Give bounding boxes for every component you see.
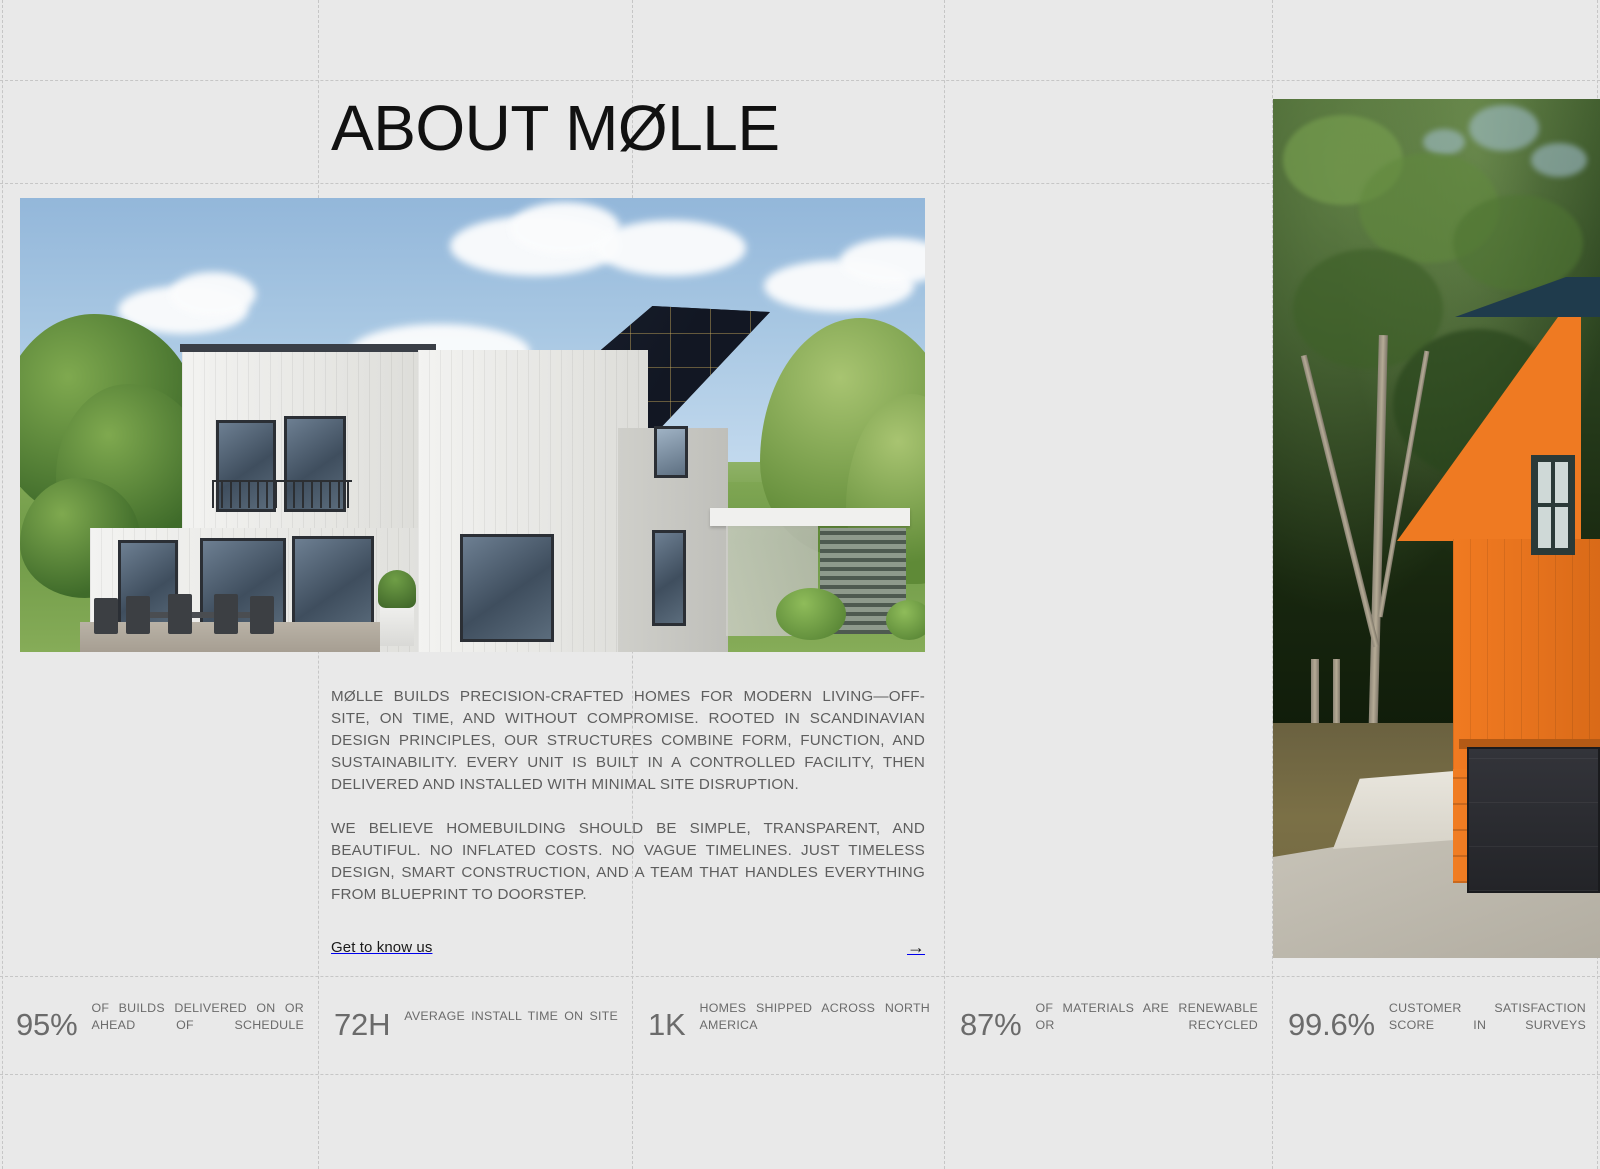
parapet xyxy=(180,344,436,352)
shrub xyxy=(886,600,925,640)
stat-value: 87% xyxy=(960,1007,1021,1043)
planter xyxy=(380,602,414,646)
hero-illustration xyxy=(20,198,925,652)
window xyxy=(652,530,686,626)
window xyxy=(654,426,688,478)
cta-label: Get to know us xyxy=(331,939,432,956)
side-illustration xyxy=(1273,99,1600,958)
stat-label: Of builds delivered on or ahead of sched… xyxy=(91,1000,304,1051)
grid-line-horizontal xyxy=(0,80,1600,81)
patio-chair xyxy=(250,596,274,634)
hero-image xyxy=(20,198,925,652)
grid-line-horizontal xyxy=(0,1074,1600,1075)
stat-value: 99.6% xyxy=(1288,1007,1375,1043)
sliding-door xyxy=(460,534,554,642)
window xyxy=(1531,455,1575,555)
page-title: ABOUT MØLLE xyxy=(331,96,780,160)
stat-label: Homes shipped across North America xyxy=(700,1000,930,1051)
sky-patch xyxy=(1469,105,1539,151)
sky-patch xyxy=(1531,143,1587,177)
stat-item: 99.6% Customer satisfaction score in sur… xyxy=(1272,976,1600,1074)
stat-item: 87% Of materials are renewable or recycl… xyxy=(944,976,1272,1074)
foliage xyxy=(1453,195,1583,291)
stat-value: 72H xyxy=(334,1007,390,1043)
about-paragraph-1: Mølle builds precision-crafted homes for… xyxy=(331,686,925,796)
cloud xyxy=(596,220,746,276)
plant xyxy=(378,570,416,608)
stat-label: Customer satisfaction score in surveys xyxy=(1389,1000,1586,1051)
stats-strip: 95% Of builds delivered on or ahead of s… xyxy=(0,976,1600,1074)
stat-value: 95% xyxy=(16,1007,77,1043)
shrub xyxy=(776,588,846,640)
window-mullion xyxy=(1538,503,1568,507)
patio-chair xyxy=(94,598,118,634)
patio-chair xyxy=(214,594,238,634)
side-image xyxy=(1273,99,1600,958)
stat-value: 1K xyxy=(648,1007,686,1043)
stat-label: Of materials are renewable or recycled xyxy=(1035,1000,1258,1051)
cloud xyxy=(170,272,256,316)
garage-door xyxy=(1467,747,1600,893)
get-to-know-us-link[interactable]: Get to know us → xyxy=(331,938,925,956)
patio-chair xyxy=(168,594,192,634)
about-paragraph-2: We believe homebuilding should be simple… xyxy=(331,818,925,906)
stat-item: 1K Homes shipped across North America xyxy=(632,976,944,1074)
patio-chair xyxy=(126,596,150,634)
sky-patch xyxy=(1423,129,1465,155)
carport-roof xyxy=(710,508,910,526)
stat-item: 95% Of builds delivered on or ahead of s… xyxy=(0,976,318,1074)
house-facade xyxy=(1453,539,1600,769)
stat-label: Average install time on site xyxy=(404,1008,618,1042)
stat-item: 72H Average install time on site xyxy=(318,976,632,1074)
arrow-right-icon: → xyxy=(907,938,925,956)
about-copy: Mølle builds precision-crafted homes for… xyxy=(331,686,925,906)
balcony-railing xyxy=(212,480,352,508)
